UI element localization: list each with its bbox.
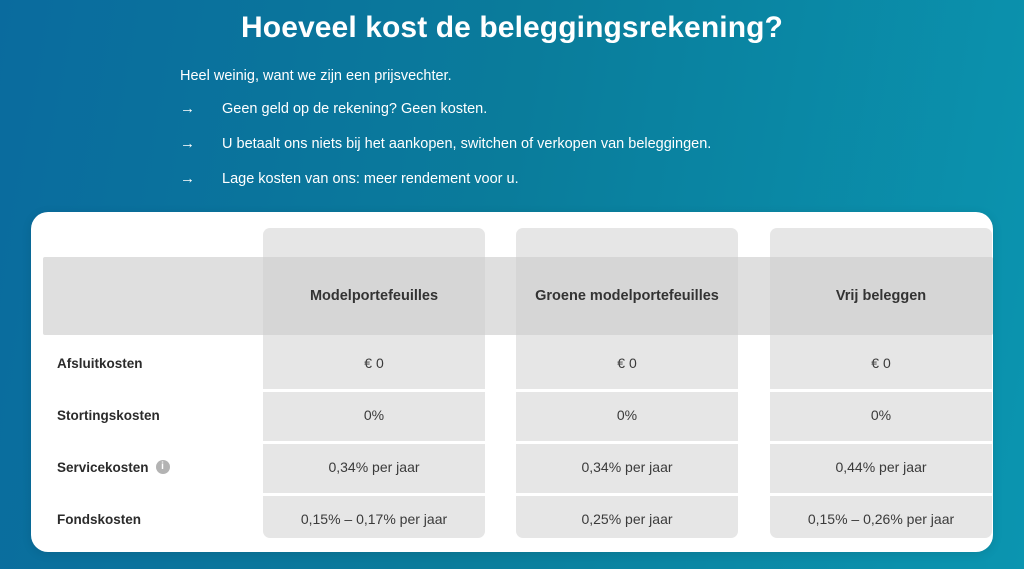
page-title: Hoeveel kost de beleggingsrekening? (0, 0, 1024, 45)
benefit-text: U betaalt ons niets bij het aankopen, sw… (222, 134, 711, 154)
row-label-fondskosten: Fondskosten (57, 493, 263, 545)
benefit-text: Geen geld op de rekening? Geen kosten. (222, 99, 487, 119)
table-cell: € 0 (263, 337, 485, 389)
page-root: Hoeveel kost de beleggingsrekening? Heel… (0, 0, 1024, 569)
list-item: → Geen geld op de rekening? Geen kosten. (180, 99, 880, 134)
row-label-servicekosten: Servicekosten i (57, 441, 263, 493)
table-cell: 0% (263, 389, 485, 441)
hero-lead-text: Heel weinig, want we zijn een prijsvecht… (180, 66, 452, 86)
column-header-3: Vrij beleggen (770, 257, 992, 335)
table-content: Modelportefeuilles Groene modelportefeui… (31, 212, 993, 552)
table-cell: 0% (516, 389, 738, 441)
pricing-card: Modelportefeuilles Groene modelportefeui… (31, 212, 993, 552)
info-icon[interactable]: i (156, 460, 170, 474)
table-cell: 0,44% per jaar (770, 441, 992, 493)
hero-section: Hoeveel kost de beleggingsrekening? Heel… (0, 0, 1024, 45)
table-cell: 0,15% – 0,26% per jaar (770, 493, 992, 545)
row-label-afsluitkosten: Afsluitkosten (57, 337, 263, 389)
benefit-text: Lage kosten van ons: meer rendement voor… (222, 169, 519, 189)
benefit-list: → Geen geld op de rekening? Geen kosten.… (180, 99, 880, 204)
row-label-text: Afsluitkosten (57, 356, 143, 371)
row-label-text: Fondskosten (57, 512, 141, 527)
pricing-table: Modelportefeuilles Groene modelportefeui… (31, 212, 993, 552)
column-header-2: Groene modelportefeuilles (516, 257, 738, 335)
list-item: → Lage kosten van ons: meer rendement vo… (180, 169, 880, 204)
list-item: → U betaalt ons niets bij het aankopen, … (180, 134, 880, 169)
table-cell: 0,15% – 0,17% per jaar (263, 493, 485, 545)
table-cell: 0,34% per jaar (516, 441, 738, 493)
table-cell: 0,25% per jaar (516, 493, 738, 545)
row-label-stortingskosten: Stortingskosten (57, 389, 263, 441)
column-header-1: Modelportefeuilles (263, 257, 485, 335)
table-cell: 0% (770, 389, 992, 441)
row-label-text: Stortingskosten (57, 408, 160, 423)
table-cell: 0,34% per jaar (263, 441, 485, 493)
arrow-right-icon: → (180, 169, 222, 189)
table-cell: € 0 (770, 337, 992, 389)
table-cell: € 0 (516, 337, 738, 389)
arrow-right-icon: → (180, 99, 222, 119)
row-label-text: Servicekosten (57, 460, 149, 475)
arrow-right-icon: → (180, 134, 222, 154)
